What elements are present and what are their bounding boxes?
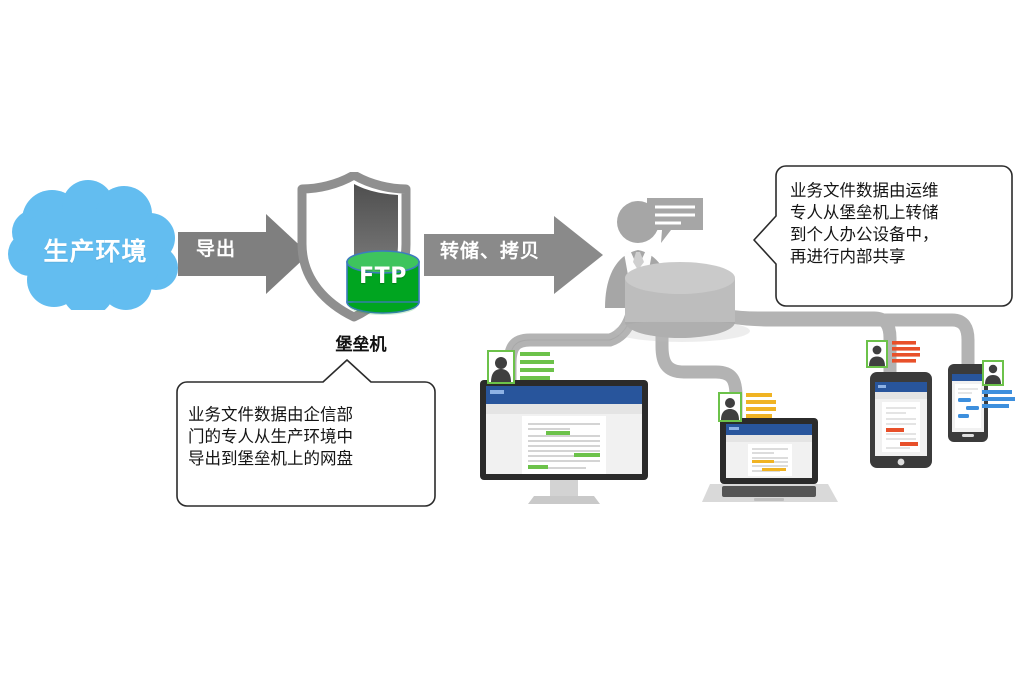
ftp-label: FTP bbox=[352, 264, 414, 289]
callout-ops-share-text: 业务文件数据由运维 专人从堡垒机上转储 到个人办公设备中， 再进行内部共享 bbox=[790, 180, 939, 268]
contact-card-phone-icon bbox=[982, 360, 1015, 408]
cylinder-shadow bbox=[612, 318, 752, 344]
tablet bbox=[870, 372, 932, 468]
diagram-canvas: 生产环境 导出 FTP 堡垒机 转储、拷贝 bbox=[0, 0, 1015, 675]
cloud-label: 生产环境 bbox=[8, 232, 183, 268]
bastion-host-label: 堡垒机 bbox=[316, 330, 406, 355]
laptop bbox=[700, 418, 842, 508]
contact-card-desktop-icon bbox=[487, 350, 555, 392]
ftp-reflection bbox=[344, 300, 422, 324]
desktop-monitor bbox=[478, 378, 650, 506]
export-arrow-label: 导出 bbox=[196, 234, 236, 261]
contact-card-tablet-icon bbox=[866, 340, 924, 374]
transfer-copy-arrow-label: 转储、拷贝 bbox=[440, 236, 540, 263]
callout-export-bastion-text: 业务文件数据由企信部 门的专人从生产环境中 导出到堡垒机上的网盘 bbox=[188, 404, 353, 470]
production-environment-cloud: 生产环境 bbox=[8, 180, 183, 310]
speech-bubble-icon bbox=[645, 196, 707, 248]
contact-card-laptop-icon bbox=[718, 392, 780, 430]
